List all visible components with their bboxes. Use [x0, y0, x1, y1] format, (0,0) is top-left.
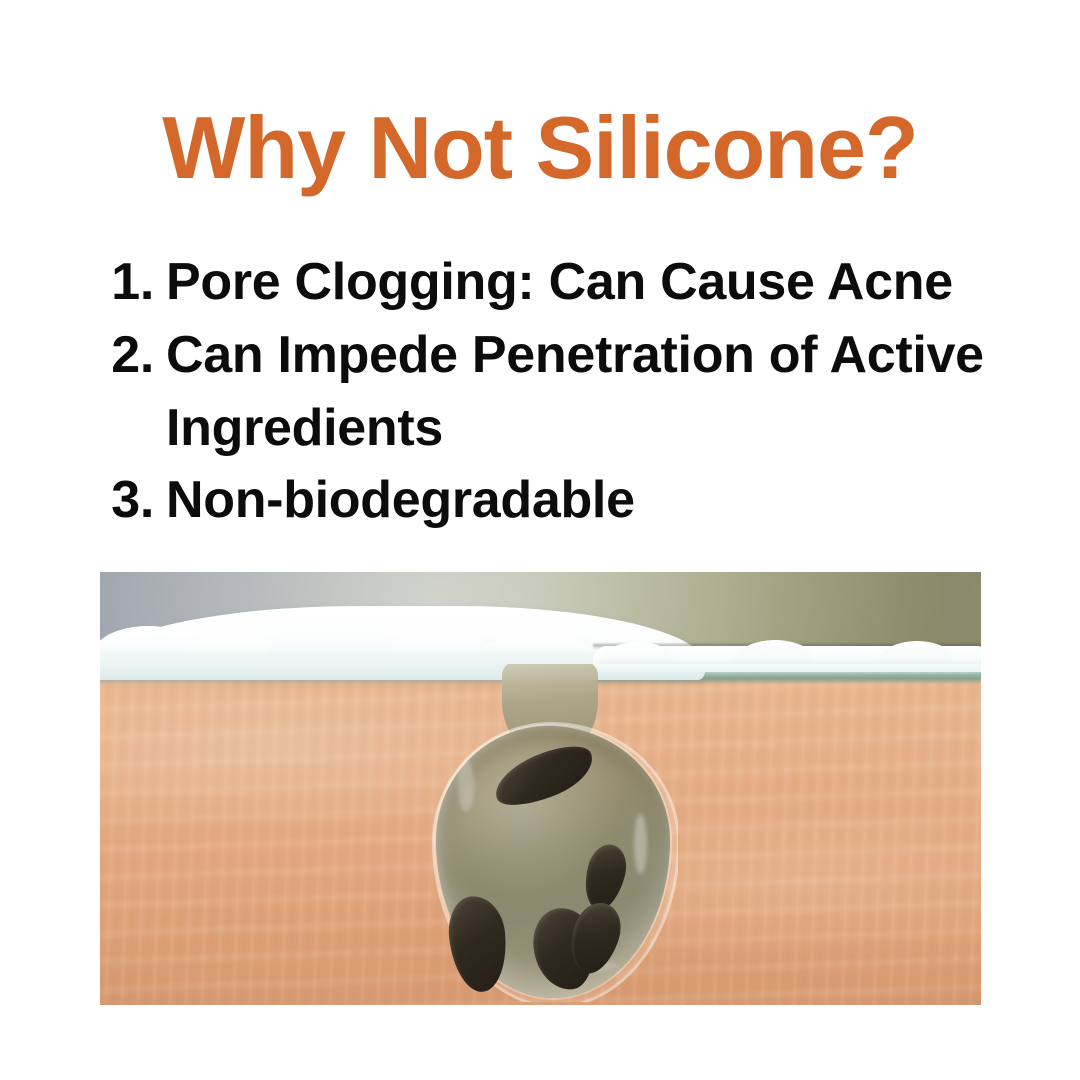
skin-cross-section-illustration: [100, 572, 981, 1005]
cream-lobe: [671, 647, 737, 664]
list-item-label: Pore Clogging: Can Cause Acne: [166, 246, 996, 319]
list-item: 2. Can Impede Penetration of Active Ingr…: [96, 319, 996, 465]
clogged-pore: [428, 664, 678, 1002]
list-item-number: 2.: [96, 319, 166, 392]
cream-lobe: [599, 642, 677, 664]
list-item: 1. Pore Clogging: Can Cause Acne: [96, 246, 996, 319]
list-item-number: 3.: [96, 464, 166, 537]
pore-highlight: [458, 760, 474, 812]
cream-lobe: [877, 641, 957, 664]
cream-lobe: [386, 628, 490, 656]
cream-lobe: [733, 640, 817, 664]
cream-lobe: [268, 622, 398, 656]
cream-blanket-right-lobes: [593, 634, 981, 664]
cream-lobe: [478, 634, 596, 656]
reasons-list: 1. Pore Clogging: Can Cause Acne 2. Can …: [96, 246, 996, 537]
page-title: Why Not Silicone?: [0, 104, 1080, 192]
poster-root: Why Not Silicone? 1. Pore Clogging: Can …: [0, 0, 1080, 1080]
cream-lobe: [811, 646, 881, 664]
cream-lobe: [951, 648, 981, 664]
list-item-label: Non-biodegradable: [166, 464, 996, 537]
pore-highlight: [634, 814, 647, 874]
list-item-label: Can Impede Penetration of Active Ingredi…: [166, 319, 996, 465]
list-item-number: 1.: [96, 246, 166, 319]
list-item: 3. Non-biodegradable: [96, 464, 996, 537]
